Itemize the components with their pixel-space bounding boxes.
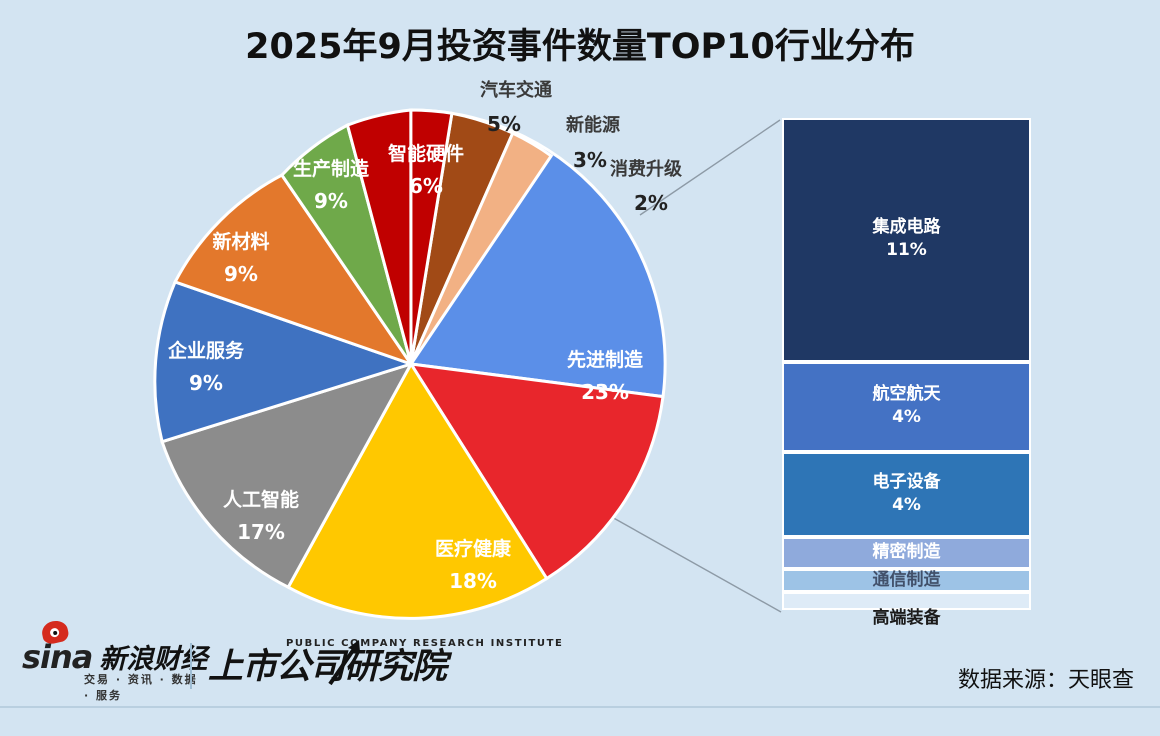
svg-text:9%: 9% <box>189 371 223 395</box>
chart-canvas: 2025年9月投资事件数量TOP10行业分布 <box>0 0 1160 736</box>
arrow-icon <box>326 640 366 686</box>
footer-divider <box>0 706 1160 708</box>
bar-segment-tongxinzhizao[interactable]: 通信制造 <box>782 569 1031 592</box>
svg-text:人工智能: 人工智能 <box>223 488 299 511</box>
bar-segment-label: 精密制造 <box>873 542 941 563</box>
svg-text:9%: 9% <box>224 262 258 286</box>
svg-text:生产制造: 生产制造 <box>293 157 370 180</box>
bar-segment-value: 4% <box>892 405 921 430</box>
bar-segment-label: 电子设备 <box>873 472 941 493</box>
svg-text:智能硬件: 智能硬件 <box>388 142 464 165</box>
svg-text:2%: 2% <box>634 191 668 215</box>
bar-segment-dianzishebei[interactable]: 电子设备 4% <box>782 452 1031 537</box>
svg-text:9%: 9% <box>314 189 348 213</box>
svg-text:汽车交通: 汽车交通 <box>480 79 552 101</box>
svg-text:5%: 5% <box>487 112 521 136</box>
data-source-note: 数据来源：天眼查 <box>958 662 1134 694</box>
pie-label-qichejiaotong: 汽车交通 5% <box>480 79 552 136</box>
bar-segment-jichengdianlu[interactable]: 集成电路 11% <box>782 118 1031 362</box>
svg-text:医疗健康: 医疗健康 <box>435 537 512 560</box>
sina-tagline: 交易 · 资讯 · 数据 · 服务 <box>84 671 207 703</box>
institute-logo: PUBLIC COMPANY RESEARCH INSTITUTE 上市公司研究… <box>208 638 563 686</box>
breakout-stacked-bar: 集成电路 11% 航空航天 4% 电子设备 4% 精密制造 通信制造 高端装备 <box>782 118 1031 613</box>
svg-text:23%: 23% <box>581 380 629 404</box>
svg-text:6%: 6% <box>409 174 443 198</box>
bar-segment-hangkonghangtian[interactable]: 航空航天 4% <box>782 362 1031 452</box>
sina-finance-logo: sina 新浪财经 交易 · 资讯 · 数据 · 服务 <box>22 641 207 673</box>
svg-text:消费升级: 消费升级 <box>610 158 683 180</box>
svg-text:新材料: 新材料 <box>212 230 269 253</box>
svg-text:企业服务: 企业服务 <box>167 339 245 362</box>
pie-chart: 先进制造 23% 医疗健康 18% 人工智能 17% 企业服务 9% 新材料 9… <box>0 0 760 640</box>
sina-wordmark: sina <box>22 641 92 673</box>
bar-segment-label: 集成电路 <box>873 217 941 238</box>
bar-segment-value: 11% <box>886 238 927 263</box>
svg-text:3%: 3% <box>573 148 607 172</box>
bar-segment-label: 航空航天 <box>873 384 941 405</box>
bar-segment-jingmizhizao[interactable]: 精密制造 <box>782 537 1031 569</box>
institute-chinese-name: 上市公司研究院 <box>208 649 563 686</box>
svg-text:先进制造: 先进制造 <box>567 348 644 371</box>
svg-text:17%: 17% <box>237 520 285 544</box>
pie-label-xiaofeishengji: 消费升级 2% <box>610 158 683 215</box>
svg-text:18%: 18% <box>449 569 497 593</box>
bar-segment-label: 高端装备 <box>784 608 1029 629</box>
bar-segment-gaoduanzhuangbei[interactable]: 高端装备 <box>782 592 1031 610</box>
svg-text:新能源: 新能源 <box>566 114 620 136</box>
logo-separator <box>190 643 192 689</box>
bar-segment-value: 4% <box>892 493 921 518</box>
bar-segment-label: 通信制造 <box>873 570 941 591</box>
